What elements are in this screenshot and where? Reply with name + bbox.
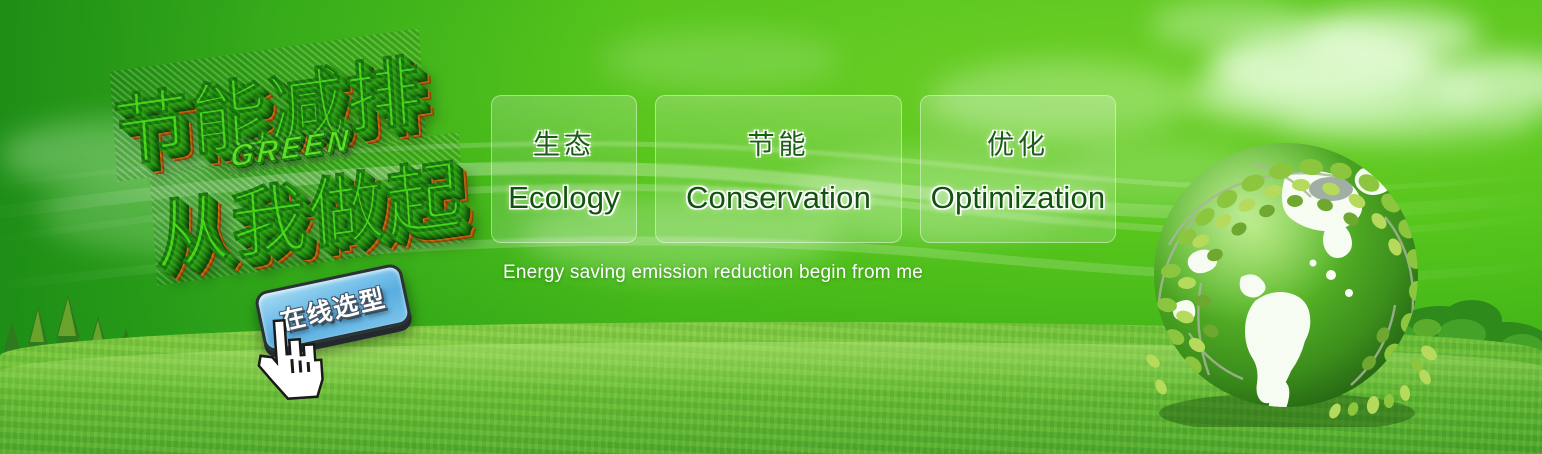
feature-card-conservation[interactable]: 节能 Conservation — [655, 95, 902, 243]
feature-cards: 生态 Ecology 节能 Conservation 优化 Optimizati… — [491, 95, 1116, 243]
green-energy-banner: 节能减排 GREEN 从我做起 在线选型 生态 Ecology 节能 Conse… — [0, 0, 1542, 454]
feature-card-en-label: Conservation — [686, 180, 871, 216]
feature-card-en-label: Ecology — [508, 180, 620, 216]
feature-card-cn-label: 节能 — [748, 123, 810, 162]
title-art-3d: 节能减排 GREEN 从我做起 — [104, 36, 504, 284]
feature-card-cn-label: 优化 — [987, 123, 1049, 162]
feature-card-ecology[interactable]: 生态 Ecology — [491, 95, 637, 243]
online-selection-label: 在线选型 — [276, 278, 389, 337]
banner-tagline: Energy saving emission reduction begin f… — [503, 262, 923, 284]
feature-card-cn-label: 生态 — [533, 123, 595, 162]
feature-card-optimization[interactable]: 优化 Optimization — [920, 95, 1116, 243]
feature-card-en-label: Optimization — [931, 180, 1106, 216]
leafy-earth-globe-icon — [1135, 125, 1437, 427]
